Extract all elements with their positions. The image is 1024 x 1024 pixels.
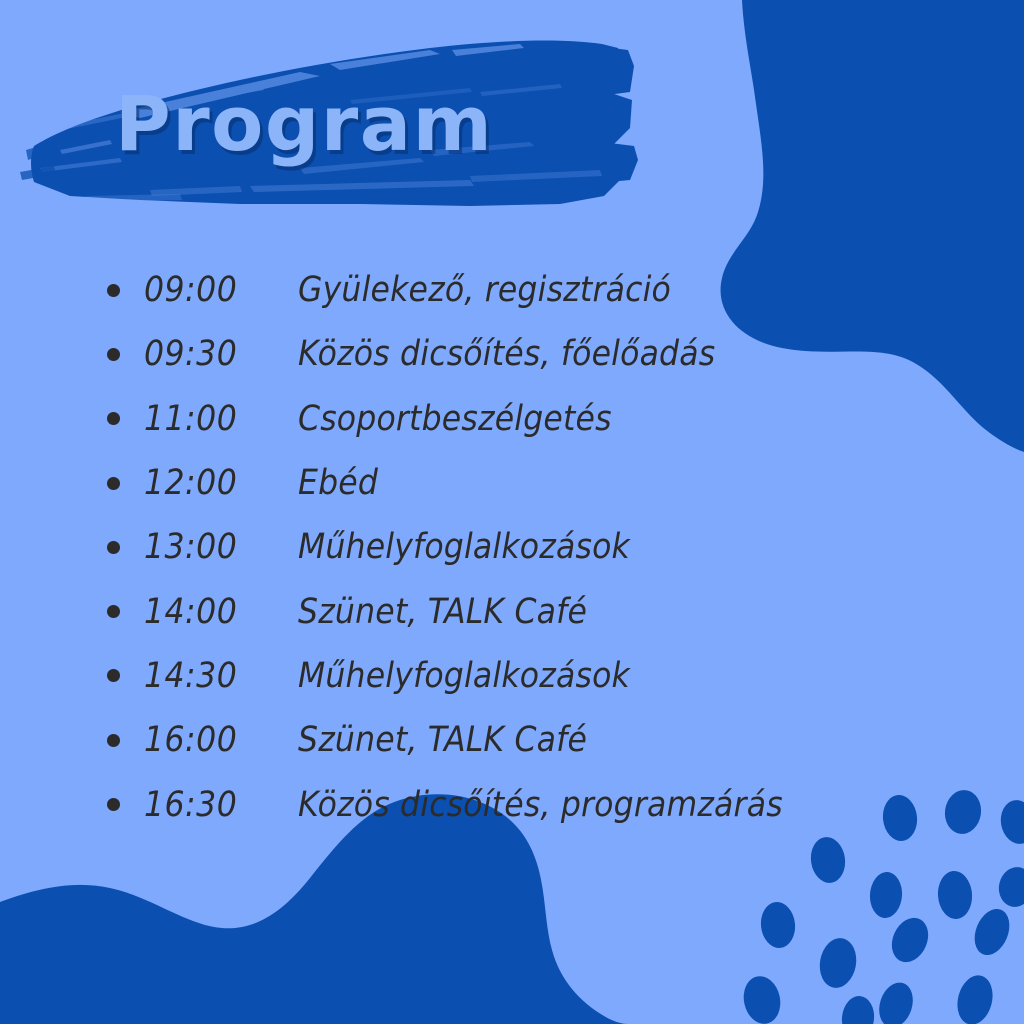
dot-pattern-icon	[739, 788, 1024, 1024]
poster-canvas: Program 09:00 Gyülekező, regisztráció 09…	[0, 0, 1024, 1024]
dot-pattern-layer	[0, 0, 1024, 1024]
